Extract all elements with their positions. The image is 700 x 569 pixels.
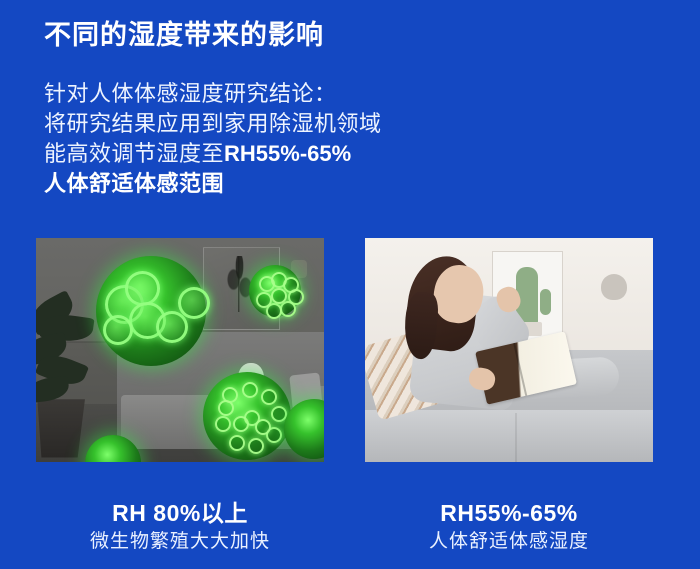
microbe-cell (103, 315, 133, 345)
humidity-infographic-poster: 不同的湿度带来的影响 针对人体体感湿度研究结论： 将研究结果应用到家用除湿机领域… (0, 0, 700, 569)
caption-comfort-humidity: RH55%-65% 人体舒适体感湿度 (365, 498, 653, 556)
body-copy-line-4: 人体舒适体感范围 (44, 169, 382, 199)
microbe-cell (178, 287, 210, 319)
body-copy-line-2: 将研究结果应用到家用除湿机领域 (44, 109, 382, 139)
leaf (36, 376, 70, 404)
body-copy-line-1: 针对人体体感湿度研究结论： (44, 79, 382, 109)
dark-room-scene (36, 238, 324, 462)
body-copy-line-3: 能高效调节湿度至RH55%-65% (44, 139, 382, 169)
caption-subtitle: 人体舒适体感湿度 (365, 528, 653, 556)
wall-knob-icon (601, 274, 627, 300)
sofa-seat (365, 410, 653, 462)
caption-title: RH 80%以上 (36, 498, 324, 528)
caption-title: RH55%-65% (365, 498, 653, 528)
page-title: 不同的湿度带来的影响 (44, 18, 324, 53)
microbe-cell (125, 271, 160, 306)
sofa-seam (515, 413, 517, 462)
microbe-dot-field (256, 272, 293, 309)
bright-room-scene (365, 238, 653, 462)
plant-leaves (36, 296, 99, 412)
caption-high-humidity: RH 80%以上 微生物繁殖大大加快 (36, 498, 324, 556)
microbe-sphere-large (96, 256, 206, 366)
body-copy-line-3-highlight: RH55%-65% (224, 141, 351, 166)
body-copy-line-3-normal: 能高效调节湿度至 (44, 141, 224, 166)
photo-high-humidity (36, 238, 324, 462)
caption-subtitle: 微生物繁殖大大加快 (36, 528, 324, 556)
photo-comfort-humidity (365, 238, 653, 462)
microbe-sphere-bottom (203, 372, 291, 460)
microbe-sphere-small (249, 265, 301, 317)
microbe-dot-field (215, 385, 278, 448)
body-copy-block: 针对人体体感湿度研究结论： 将研究结果应用到家用除湿机领域 能高效调节湿度至RH… (44, 79, 382, 199)
